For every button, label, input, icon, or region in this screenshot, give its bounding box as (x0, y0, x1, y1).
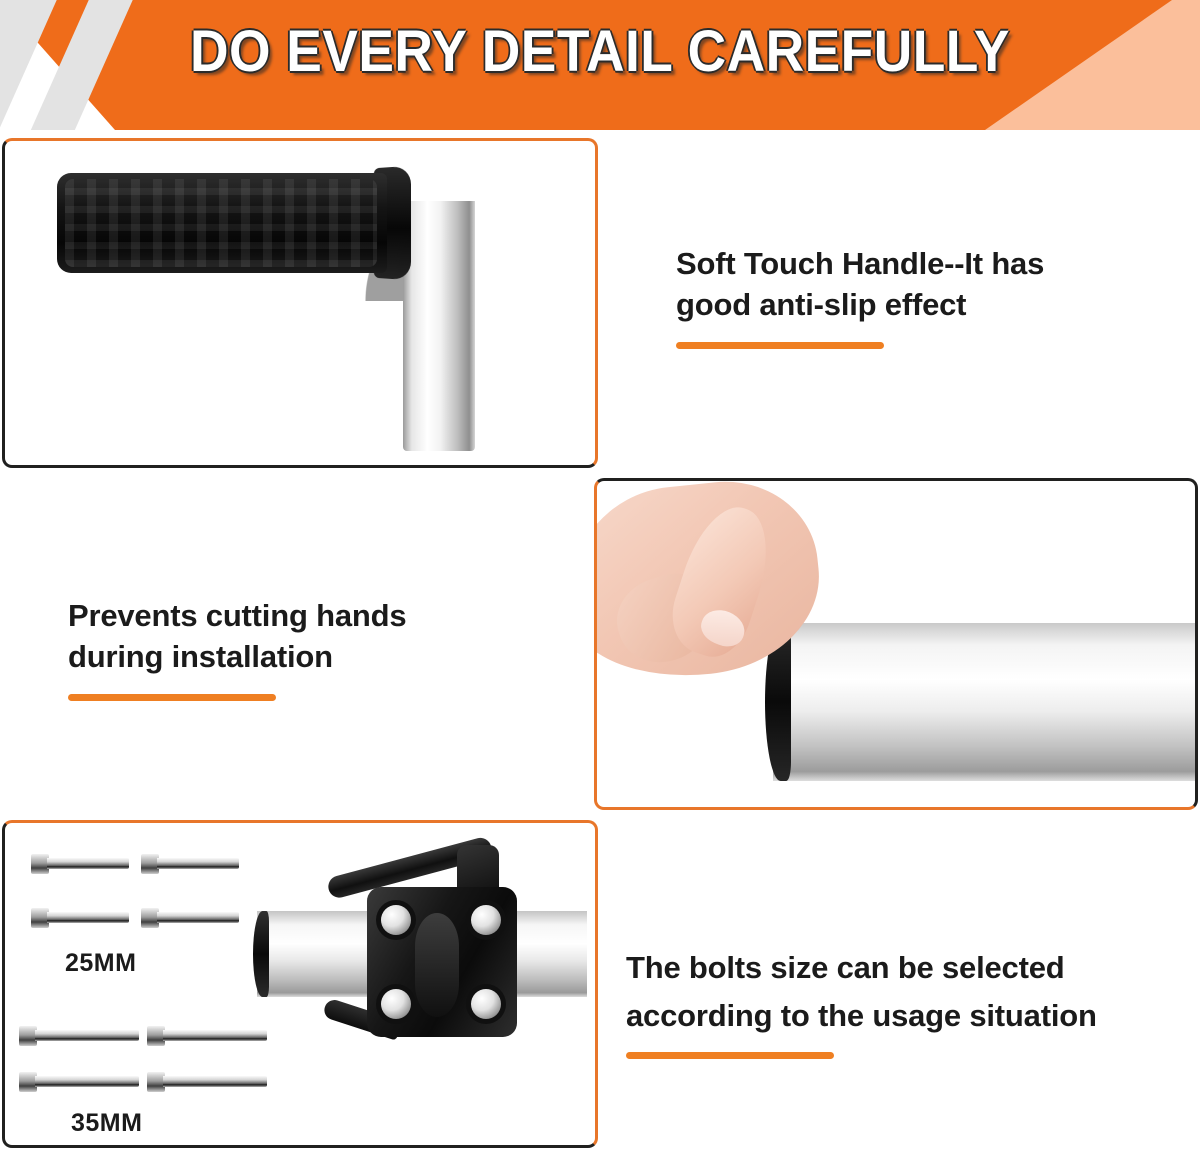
caption-bolt-size-selection: The bolts size can be selected according… (626, 944, 1186, 1059)
hand-touching-tube-photo (594, 478, 1198, 810)
bolt-shaft (163, 1030, 267, 1041)
clamp-slot (415, 913, 459, 1017)
caption-line-1: Prevents cutting hands (68, 596, 508, 637)
page-title: DO EVERY DETAIL CAREFULLY (48, 18, 1152, 85)
bolt-shaft (35, 1030, 139, 1041)
bolt-shaft (157, 858, 239, 869)
rubber-grip (57, 173, 387, 273)
caption-line-2: good anti-slip effect (676, 285, 1146, 326)
caption-line-2: during installation (68, 637, 508, 678)
caption-prevents-cutting-hands: Prevents cutting hands during installati… (68, 596, 508, 701)
clamp-bolt (471, 905, 501, 935)
bolts-and-clamp-photo: 25MM 35MM (2, 820, 598, 1148)
header-banner: DO EVERY DETAIL CAREFULLY (0, 0, 1200, 130)
caption-line-2: according to the usage situation (626, 992, 1186, 1040)
chrome-tube (773, 623, 1198, 781)
infographic-page: DO EVERY DETAIL CAREFULLY Soft Touch Han… (0, 0, 1200, 1165)
bolt-shaft (157, 912, 239, 923)
clamp-bolt (381, 905, 411, 935)
caption-line-1: The bolts size can be selected (626, 944, 1186, 992)
grip-texture (65, 179, 377, 267)
clamp-body (367, 887, 517, 1037)
soft-touch-handle-photo (2, 138, 598, 468)
accent-bar (676, 342, 884, 349)
caption-line-1: Soft Touch Handle--It has (676, 244, 1146, 285)
chrome-tube-vertical (403, 201, 475, 451)
clamp-bolt (471, 989, 501, 1019)
accent-bar (626, 1052, 834, 1059)
bolt-shaft (163, 1076, 267, 1087)
bolt-size-label-25mm: 25MM (65, 949, 136, 978)
bolt-size-label-35mm: 35MM (71, 1109, 142, 1138)
caption-soft-touch-handle: Soft Touch Handle--It has good anti-slip… (676, 244, 1146, 349)
bolt-shaft (47, 912, 129, 923)
bolt-shaft (35, 1076, 139, 1087)
clamp-bolt (381, 989, 411, 1019)
accent-bar (68, 694, 276, 701)
tube-end-cap (253, 911, 269, 997)
bolt-shaft (47, 858, 129, 869)
